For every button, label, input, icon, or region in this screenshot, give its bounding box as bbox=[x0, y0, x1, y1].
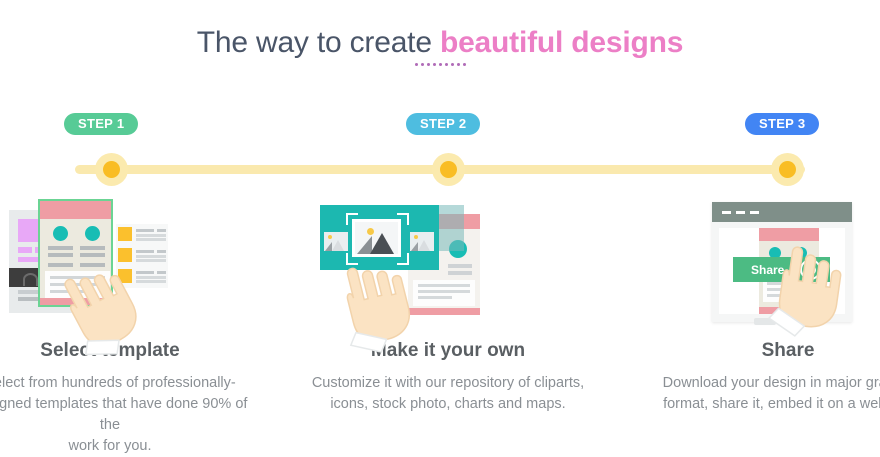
separator-dot bbox=[457, 63, 460, 66]
arc-shape bbox=[23, 273, 38, 286]
crop-bracket-icon bbox=[397, 213, 409, 225]
separator-dot bbox=[421, 63, 424, 66]
step-column-3: Share Share Download your bbox=[644, 192, 880, 415]
step-title-3: Share bbox=[644, 340, 880, 362]
peak-shape bbox=[325, 242, 332, 251]
steps-timeline: STEP 1 STEP 2 STEP 3 bbox=[0, 113, 880, 183]
steps-columns: Select template Select from hundreds of … bbox=[0, 192, 880, 448]
card-text-line bbox=[448, 264, 472, 268]
card-text-line bbox=[80, 246, 105, 250]
page-title: The way to create beautiful designs bbox=[0, 26, 880, 60]
step-badge-2[interactable]: STEP 2 bbox=[406, 113, 480, 135]
separator-dot bbox=[451, 63, 454, 66]
step-description-2: Customize it with our repository of clip… bbox=[304, 373, 592, 415]
timeline-node-2[interactable] bbox=[432, 153, 465, 186]
step-description-3: Download your design in major graphic fo… bbox=[644, 373, 880, 415]
crop-bracket-icon bbox=[346, 213, 358, 225]
separator-dot bbox=[433, 63, 436, 66]
avatar-circle bbox=[53, 226, 68, 241]
pointing-hand-icon bbox=[54, 252, 164, 344]
panel-fold-overlay bbox=[439, 205, 464, 251]
separator-dot bbox=[439, 63, 442, 66]
separator-dot bbox=[427, 63, 430, 66]
step-description-1: Select from hundreds of professionally- … bbox=[0, 373, 254, 457]
separator-dot bbox=[463, 63, 466, 66]
list-text-line bbox=[136, 229, 154, 232]
page-title-accent: beautiful designs bbox=[440, 26, 683, 59]
browser-title-bar bbox=[712, 202, 852, 222]
separator-dot bbox=[415, 63, 418, 66]
card-text-line bbox=[448, 271, 472, 275]
photo-thumbnail[interactable] bbox=[324, 232, 348, 251]
mountain-photo-icon bbox=[410, 232, 434, 251]
separator-dot bbox=[445, 63, 448, 66]
window-dash-icon bbox=[736, 211, 745, 214]
sun-shape bbox=[414, 235, 418, 239]
list-text-line bbox=[157, 229, 166, 232]
thumbnail-square bbox=[118, 227, 132, 241]
mountain-photo-icon bbox=[324, 232, 348, 251]
card-header-band bbox=[40, 201, 111, 219]
pointing-hand-icon bbox=[766, 240, 876, 332]
window-dash-icon bbox=[750, 211, 759, 214]
window-dash-icon bbox=[722, 211, 731, 214]
step-title-2: Make it your own bbox=[304, 340, 592, 362]
timeline-node-1[interactable] bbox=[95, 153, 128, 186]
page-title-prefix: The way to create bbox=[197, 26, 440, 59]
step-badge-3[interactable]: STEP 3 bbox=[745, 113, 819, 135]
sun-shape bbox=[328, 235, 332, 239]
customize-illustration bbox=[304, 192, 592, 332]
title-dotted-separator bbox=[0, 63, 880, 66]
pointing-hand-icon bbox=[332, 250, 442, 342]
step-column-1: Select template Select from hundreds of … bbox=[0, 192, 254, 457]
share-illustration: Share bbox=[644, 192, 880, 332]
template-block bbox=[18, 247, 32, 253]
list-text-line bbox=[136, 234, 166, 237]
page-root: The way to create beautiful designs STEP… bbox=[0, 0, 880, 448]
list-text-line bbox=[136, 238, 166, 241]
step-column-2: Make it your own Customize it with our r… bbox=[304, 192, 592, 415]
avatar-circle bbox=[85, 226, 100, 241]
select-template-illustration bbox=[0, 192, 254, 332]
list-item[interactable] bbox=[118, 227, 166, 242]
card-text-line bbox=[48, 246, 73, 250]
timeline-node-3[interactable] bbox=[771, 153, 804, 186]
step-badge-1[interactable]: STEP 1 bbox=[64, 113, 138, 135]
photo-thumbnail[interactable] bbox=[410, 232, 434, 251]
